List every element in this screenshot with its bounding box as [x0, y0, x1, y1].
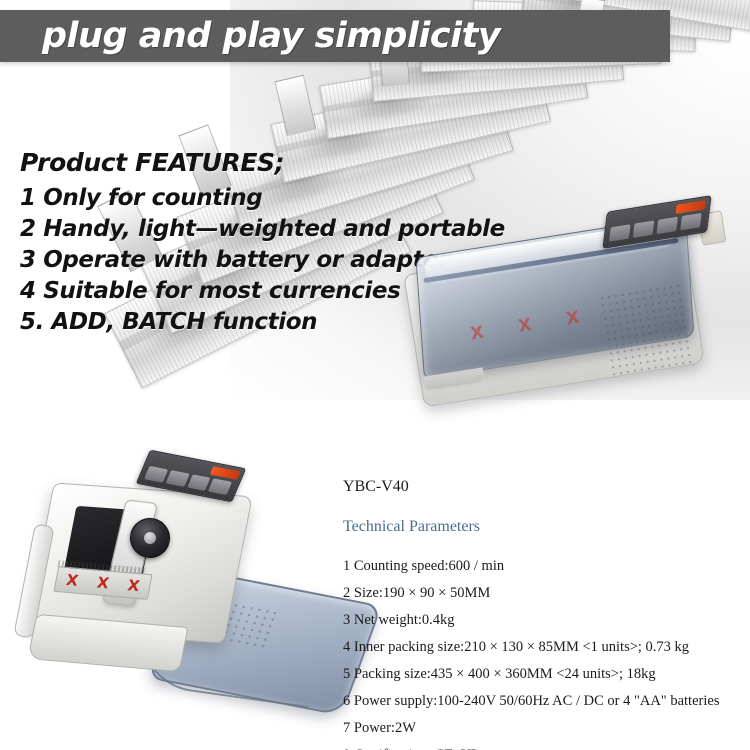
keypad-button: [208, 478, 232, 495]
banner-title: plug and play simplicity: [42, 16, 500, 56]
spec-line-2: 2 Size:190 × 90 × 50MM: [343, 580, 743, 607]
specs-heading: Technical Parameters: [343, 518, 743, 536]
spec-line-6: 6 Power supply:100-240V 50/60Hz AC / DC …: [343, 688, 743, 715]
warning-x-icon: X: [517, 315, 533, 337]
spec-line-5: 5 Packing size:435 × 400 × 360MM <24 uni…: [343, 661, 743, 688]
features-heading: Product FEATURES;: [20, 148, 500, 177]
keypad-button: [144, 466, 168, 483]
warning-x-icon: X: [469, 323, 485, 345]
header-banner: plug and play simplicity: [0, 10, 670, 62]
closed-unit-keypad: [609, 213, 702, 242]
keypad-button: [656, 217, 678, 235]
warning-x-icon: X: [96, 575, 110, 591]
product-photo-open-unit: X X X: [18, 452, 358, 738]
spec-line-8: 8 Certification: CE, UL: [343, 742, 743, 750]
keypad-button: [633, 220, 655, 238]
product-model-name: YBC-V40: [343, 478, 743, 496]
product-marketing-page: plug and play simplicity Product FEATURE…: [0, 0, 750, 750]
spec-line-4: 4 Inner packing size:210 × 130 × 85MM <1…: [343, 634, 743, 661]
technical-parameters-block: YBC-V40 Technical Parameters 1 Counting …: [343, 478, 743, 750]
spec-line-3: 3 Net weight:0.4kg: [343, 607, 743, 634]
warning-x-icon: X: [65, 572, 79, 588]
keypad-button: [187, 474, 211, 491]
keypad-button: [680, 213, 702, 231]
product-photo-closed-unit: X X X: [408, 196, 728, 426]
keypad-button: [609, 224, 631, 242]
warning-x-icon: X: [126, 578, 140, 594]
keypad-button: [165, 470, 189, 487]
closed-unit-vent-grid: [598, 282, 696, 376]
spec-line-7: 7 Power:2W: [343, 715, 743, 742]
spec-line-1: 1 Counting speed:600 / min: [343, 553, 743, 580]
